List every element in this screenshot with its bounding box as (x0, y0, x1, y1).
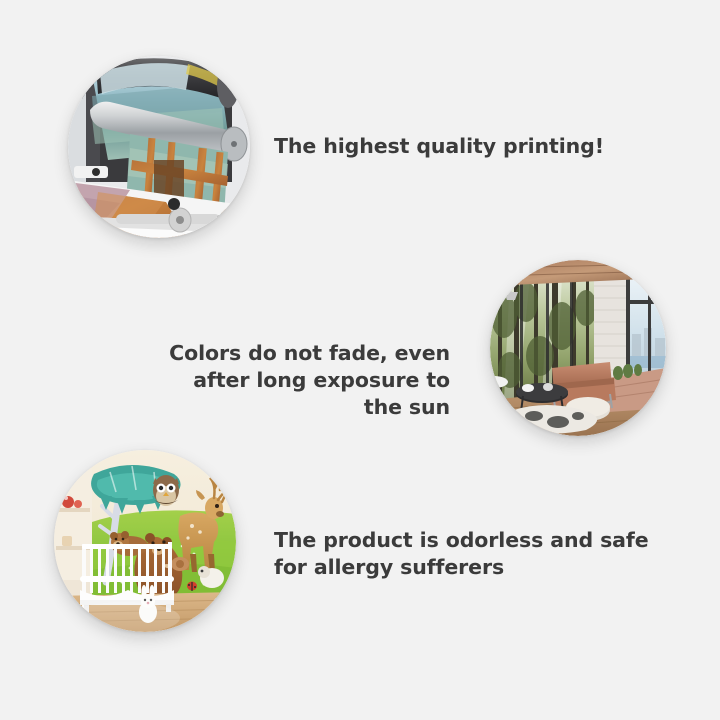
living-room-forest-mural-illustration (490, 260, 666, 436)
promo-feature-panel: The highest quality printing! (0, 0, 720, 720)
feature-caption-odorless: The product is odorless and safe for all… (274, 527, 649, 581)
feature-image-living-room (490, 260, 666, 436)
feature-image-printing (68, 56, 250, 238)
feature-caption-colors: Colors do not fade, even after long expo… (150, 340, 450, 421)
printing-press-illustration (68, 56, 250, 238)
nursery-woodland-mural-illustration (54, 450, 236, 632)
feature-image-nursery (54, 450, 236, 632)
feature-caption-printing: The highest quality printing! (274, 133, 604, 160)
